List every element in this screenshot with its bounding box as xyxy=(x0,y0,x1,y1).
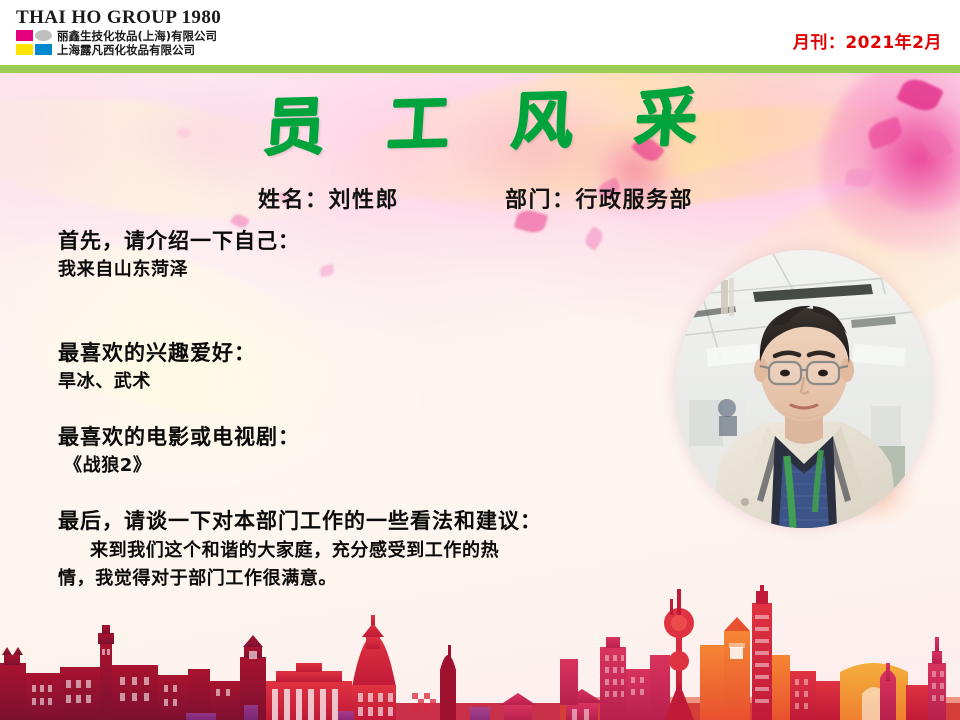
swatch-yellow-icon xyxy=(16,44,33,55)
qa-question: 最喜欢的电影或电视剧： xyxy=(58,424,300,450)
qa-answer: 我来自山东菏泽 xyxy=(58,257,300,282)
profile-name: 姓名：刘性郎 xyxy=(258,182,399,214)
swatch-gray-icon xyxy=(35,30,52,41)
page-title: 员 工 风 采 xyxy=(0,88,960,158)
employee-photo xyxy=(675,250,933,528)
logo-row-2: 上海露凡西化妆品有限公司 xyxy=(16,43,356,56)
swatch-blue-icon xyxy=(35,44,52,55)
issue-date: 月刊：2021年2月 xyxy=(793,28,942,53)
qa-block-feedback: 最后，请谈一下对本部门工作的一些看法和建议： 来到我们这个和谐的大家庭，充分感受… xyxy=(58,508,678,593)
page-title-text: 员 工 风 采 xyxy=(241,82,719,164)
company-logo: THAI HO GROUP 1980 丽鑫生技化妆品(上海)有限公司 上海露凡西… xyxy=(16,8,356,56)
qa-block-movie: 最喜欢的电影或电视剧： 《战狼2》 xyxy=(58,424,300,478)
swatch-magenta-icon xyxy=(16,30,33,41)
qa-block-intro: 首先，请介绍一下自己： 我来自山东菏泽 xyxy=(58,228,300,282)
qa-question: 最后，请谈一下对本部门工作的一些看法和建议： xyxy=(58,508,678,534)
qa-answer: 旱冰、武术 xyxy=(58,369,256,394)
qa-question: 首先，请介绍一下自己： xyxy=(58,228,300,254)
shanghai-skyline xyxy=(0,585,960,720)
logo-row-1: 丽鑫生技化妆品(上海)有限公司 xyxy=(16,29,356,42)
logo-company-line-1: 丽鑫生技化妆品(上海)有限公司 xyxy=(57,30,217,42)
petal-decor xyxy=(582,226,606,251)
newsletter-page: 员 工 风 采 姓名：刘性郎 部门：行政服务部 首先，请介绍一下自己： 我来自山… xyxy=(0,0,960,720)
page-header: THAI HO GROUP 1980 丽鑫生技化妆品(上海)有限公司 上海露凡西… xyxy=(0,0,960,65)
petal-decor xyxy=(319,264,335,278)
qa-block-hobby: 最喜欢的兴趣爱好： 旱冰、武术 xyxy=(58,340,256,394)
qa-answer-line1: 来到我们这个和谐的大家庭，充分感受到工作的热 xyxy=(58,537,678,565)
logo-company-line-2: 上海露凡西化妆品有限公司 xyxy=(57,44,195,56)
qa-answer: 《战狼2》 xyxy=(58,453,300,478)
profile-department: 部门：行政服务部 xyxy=(505,182,693,214)
header-accent-bar xyxy=(0,65,960,73)
logo-title: THAI HO GROUP 1980 xyxy=(16,8,356,28)
qa-question: 最喜欢的兴趣爱好： xyxy=(58,340,256,366)
